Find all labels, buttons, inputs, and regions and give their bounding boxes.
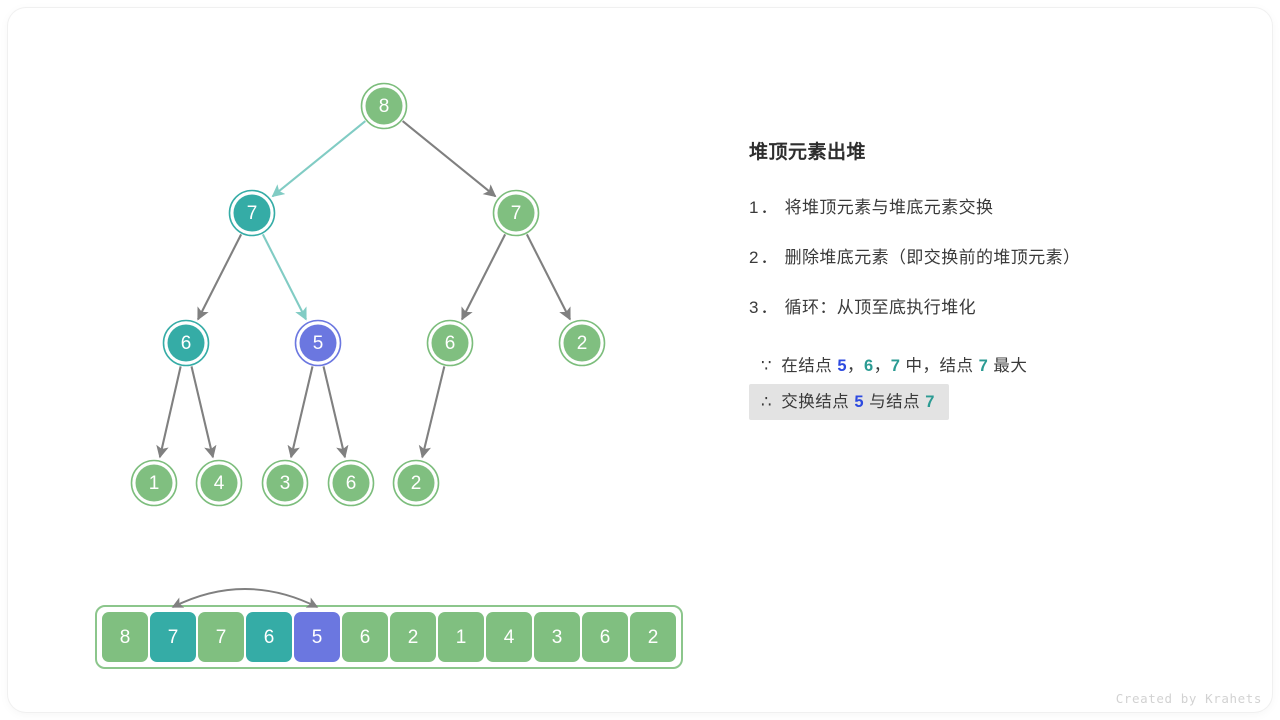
node-value: 1	[149, 473, 160, 494]
conclusion-value: 5	[837, 357, 847, 375]
step-number: 3．	[749, 298, 779, 317]
tree-edge	[422, 366, 444, 457]
array-cell[interactable]: 3	[534, 612, 580, 662]
conclusion-text: 在结点	[781, 357, 837, 375]
tree-edge	[160, 366, 181, 457]
node-value: 2	[411, 473, 422, 494]
array-cell-value: 7	[168, 627, 179, 648]
tree-edge	[263, 234, 306, 319]
conclusion-text: 最大	[988, 357, 1027, 375]
array-cell[interactable]: 6	[246, 612, 292, 662]
conclusions-list: ∵ 在结点 5，6，7 中，结点 7 最大∴ 交换结点 5 与结点 7	[749, 348, 1229, 421]
tree-edge	[273, 121, 366, 196]
array-cell-value: 1	[456, 627, 467, 648]
array-cell[interactable]: 7	[150, 612, 196, 662]
node-value: 3	[280, 473, 291, 494]
tree-nodes: 877656214362	[132, 84, 605, 506]
explanation-panel: 堆顶元素出堆 1． 将堆顶元素与堆底元素交换2． 删除堆底元素（即交换前的堆顶元…	[749, 142, 1229, 420]
page-title: 堆顶元素出堆	[749, 142, 1229, 165]
tree-edge	[291, 366, 312, 457]
conclusion-premise: ∵ 在结点 5，6，7 中，结点 7 最大	[749, 348, 1041, 384]
conclusion-highlighted: ∴ 交换结点 5 与结点 7	[749, 384, 949, 420]
tree-node[interactable]: 7	[494, 191, 539, 236]
node-value: 6	[445, 333, 456, 354]
node-value: 8	[379, 96, 390, 117]
array-cell-value: 2	[648, 627, 659, 648]
conclusion-text: 与结点	[864, 393, 925, 411]
array-cell-value: 5	[312, 627, 323, 648]
array-cell[interactable]: 6	[342, 612, 388, 662]
tree-node[interactable]: 7	[230, 191, 275, 236]
tree-node[interactable]: 1	[132, 461, 177, 506]
steps-list: 1． 将堆顶元素与堆底元素交换2． 删除堆底元素（即交换前的堆顶元素）3． 循环…	[749, 193, 1229, 318]
step-text: 循环：从顶至底执行堆化	[779, 298, 976, 317]
array-cell[interactable]: 2	[390, 612, 436, 662]
diagram-stage: 877656214362 877656214362 堆顶元素出堆 1． 将堆顶元…	[8, 8, 1272, 712]
step-item: 1． 将堆顶元素与堆底元素交换	[749, 193, 1229, 218]
tree-edges	[160, 121, 570, 457]
node-value: 2	[577, 333, 588, 354]
node-value: 5	[313, 333, 324, 354]
node-value: 6	[181, 333, 192, 354]
tree-edge	[324, 366, 345, 457]
array-cell-value: 4	[504, 627, 515, 648]
tree-node[interactable]: 2	[394, 461, 439, 506]
tree-node[interactable]: 5	[296, 321, 341, 366]
array-cell[interactable]: 4	[486, 612, 532, 662]
step-item: 3． 循环：从顶至底执行堆化	[749, 293, 1229, 318]
array-cell[interactable]: 7	[198, 612, 244, 662]
array-visualization: 877656214362	[96, 606, 682, 668]
array-cell[interactable]: 8	[102, 612, 148, 662]
node-value: 7	[511, 203, 522, 224]
conclusion-row: ∴ 交换结点 5 与结点 7	[749, 384, 1229, 420]
array-cell-value: 3	[552, 627, 563, 648]
array-cell[interactable]: 6	[582, 612, 628, 662]
tree-edge	[527, 234, 570, 319]
tree-node[interactable]: 4	[197, 461, 242, 506]
array-cell[interactable]: 1	[438, 612, 484, 662]
swap-arrow	[173, 589, 317, 607]
step-number: 2．	[749, 248, 779, 267]
array-cell-value: 2	[408, 627, 419, 648]
conclusion-value: 7	[979, 357, 989, 375]
conclusion-value: 6	[864, 357, 874, 375]
array-cell[interactable]: 2	[630, 612, 676, 662]
array-cell-value: 6	[360, 627, 371, 648]
array-cell-value: 6	[600, 627, 611, 648]
conclusion-value: 5	[854, 393, 864, 411]
step-text: 将堆顶元素与堆底元素交换	[779, 198, 993, 217]
array-cell-value: 8	[120, 627, 131, 648]
tree-node[interactable]: 2	[560, 321, 605, 366]
array-cell-value: 6	[264, 627, 275, 648]
conclusion-row: ∵ 在结点 5，6，7 中，结点 7 最大	[749, 348, 1229, 384]
node-value: 7	[247, 203, 258, 224]
array-cell-value: 7	[216, 627, 227, 648]
step-number: 1．	[749, 198, 779, 217]
conclusion-text: ，	[847, 357, 864, 375]
tree-node[interactable]: 6	[329, 461, 374, 506]
array-cell[interactable]: 5	[294, 612, 340, 662]
tree-node[interactable]: 3	[263, 461, 308, 506]
tree-node[interactable]: 6	[164, 321, 209, 366]
node-value: 6	[346, 473, 357, 494]
tree-node[interactable]: 8	[362, 84, 407, 129]
tree-edge	[192, 366, 213, 457]
conclusion-text: 交换结点	[781, 393, 854, 411]
logic-symbol: ∵	[761, 357, 773, 375]
node-value: 4	[214, 473, 225, 494]
credit-footer: Created by Krahets	[1116, 691, 1262, 706]
logic-symbol: ∴	[761, 393, 773, 411]
conclusion-text: 中，结点	[900, 357, 978, 375]
swap-arc-arrow	[173, 589, 317, 607]
tree-edge	[462, 234, 505, 319]
slide-card: 877656214362 877656214362 堆顶元素出堆 1． 将堆顶元…	[8, 8, 1272, 712]
conclusion-value: 7	[891, 357, 901, 375]
step-item: 2． 删除堆底元素（即交换前的堆顶元素）	[749, 243, 1229, 268]
tree-edge	[198, 234, 241, 319]
tree-node[interactable]: 6	[428, 321, 473, 366]
conclusion-value: 7	[925, 393, 935, 411]
conclusion-text: ，	[874, 357, 891, 375]
tree-edge	[403, 121, 496, 196]
step-text: 删除堆底元素（即交换前的堆顶元素）	[779, 248, 1080, 267]
